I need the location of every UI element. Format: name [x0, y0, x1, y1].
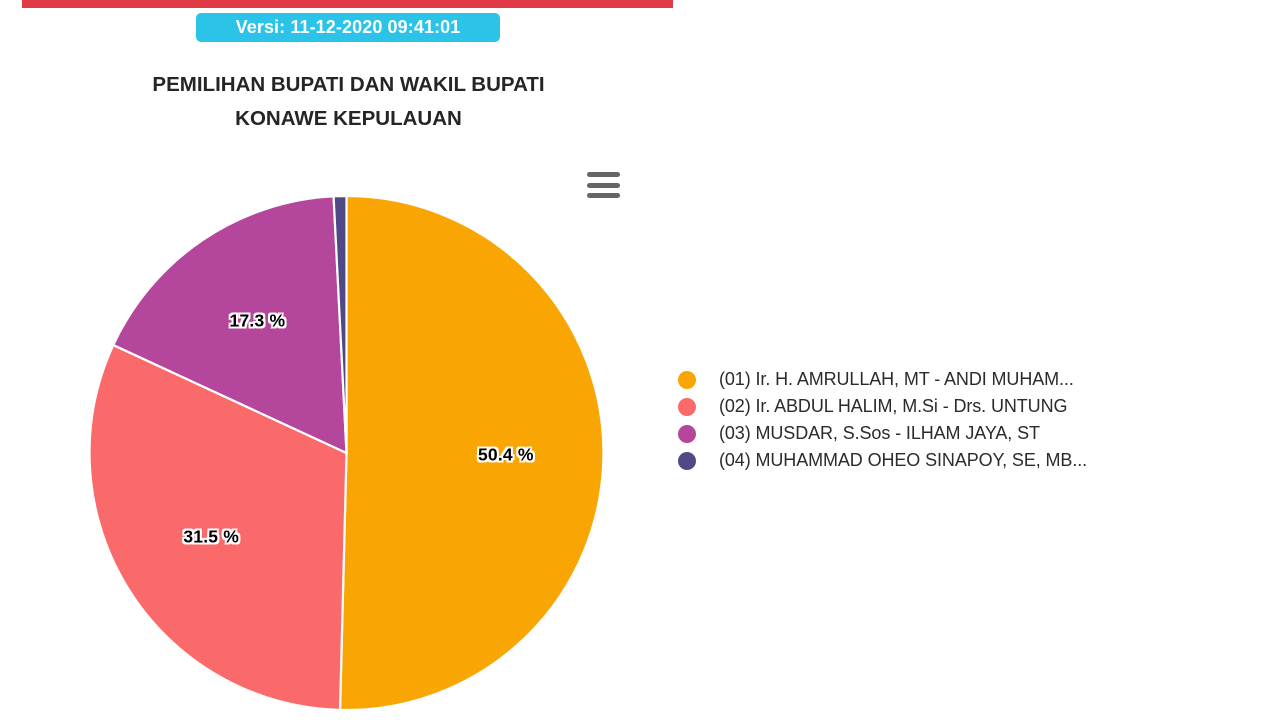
- hamburger-bar-1: [587, 172, 620, 177]
- pie-slice-group: [90, 196, 604, 710]
- pie-slice[interactable]: [334, 196, 347, 453]
- pie-slice[interactable]: [340, 196, 603, 710]
- hamburger-bar-2: [587, 183, 620, 188]
- legend-item-label: (04) MUHAMMAD OHEO SINAPOY, SE, MB...: [719, 450, 1087, 471]
- pie-slice[interactable]: [90, 345, 347, 710]
- hamburger-bar-3: [587, 193, 620, 198]
- legend-swatch-icon: [678, 452, 696, 470]
- legend-item-3[interactable]: (03) MUSDAR, S.Sos - ILHAM JAYA, ST: [678, 420, 1238, 447]
- legend-swatch-icon: [678, 371, 696, 389]
- legend-swatch-icon: [678, 398, 696, 416]
- chart-legend: (01) Ir. H. AMRULLAH, MT - ANDI MUHAM...…: [678, 366, 1238, 474]
- legend-item-label: (01) Ir. H. AMRULLAH, MT - ANDI MUHAM...: [719, 369, 1074, 390]
- chart-title-line-1: PEMILIHAN BUPATI DAN WAKIL BUPATI: [0, 68, 697, 102]
- legend-item-1[interactable]: (01) Ir. H. AMRULLAH, MT - ANDI MUHAM...: [678, 366, 1238, 393]
- legend-item-4[interactable]: (04) MUHAMMAD OHEO SINAPOY, SE, MB...: [678, 447, 1238, 474]
- chart-title: PEMILIHAN BUPATI DAN WAKIL BUPATI KONAWE…: [0, 68, 697, 136]
- pie-slice-label: 50.4 %: [478, 445, 534, 466]
- top-accent-rule: [22, 0, 673, 8]
- pie-slice[interactable]: [113, 196, 346, 453]
- chart-title-line-2: KONAWE KEPULAUAN: [0, 102, 697, 136]
- legend-item-2[interactable]: (02) Ir. ABDUL HALIM, M.Si - Drs. UNTUNG: [678, 393, 1238, 420]
- version-badge: Versi: 11-12-2020 09:41:01: [196, 13, 500, 42]
- legend-swatch-icon: [678, 425, 696, 443]
- hamburger-menu-icon[interactable]: [587, 172, 620, 198]
- pie-slice-label: 31.5 %: [183, 527, 239, 548]
- pie-slice-label: 17.3 %: [230, 310, 286, 331]
- legend-item-label: (02) Ir. ABDUL HALIM, M.Si - Drs. UNTUNG: [719, 396, 1067, 417]
- legend-item-label: (03) MUSDAR, S.Sos - ILHAM JAYA, ST: [719, 423, 1040, 444]
